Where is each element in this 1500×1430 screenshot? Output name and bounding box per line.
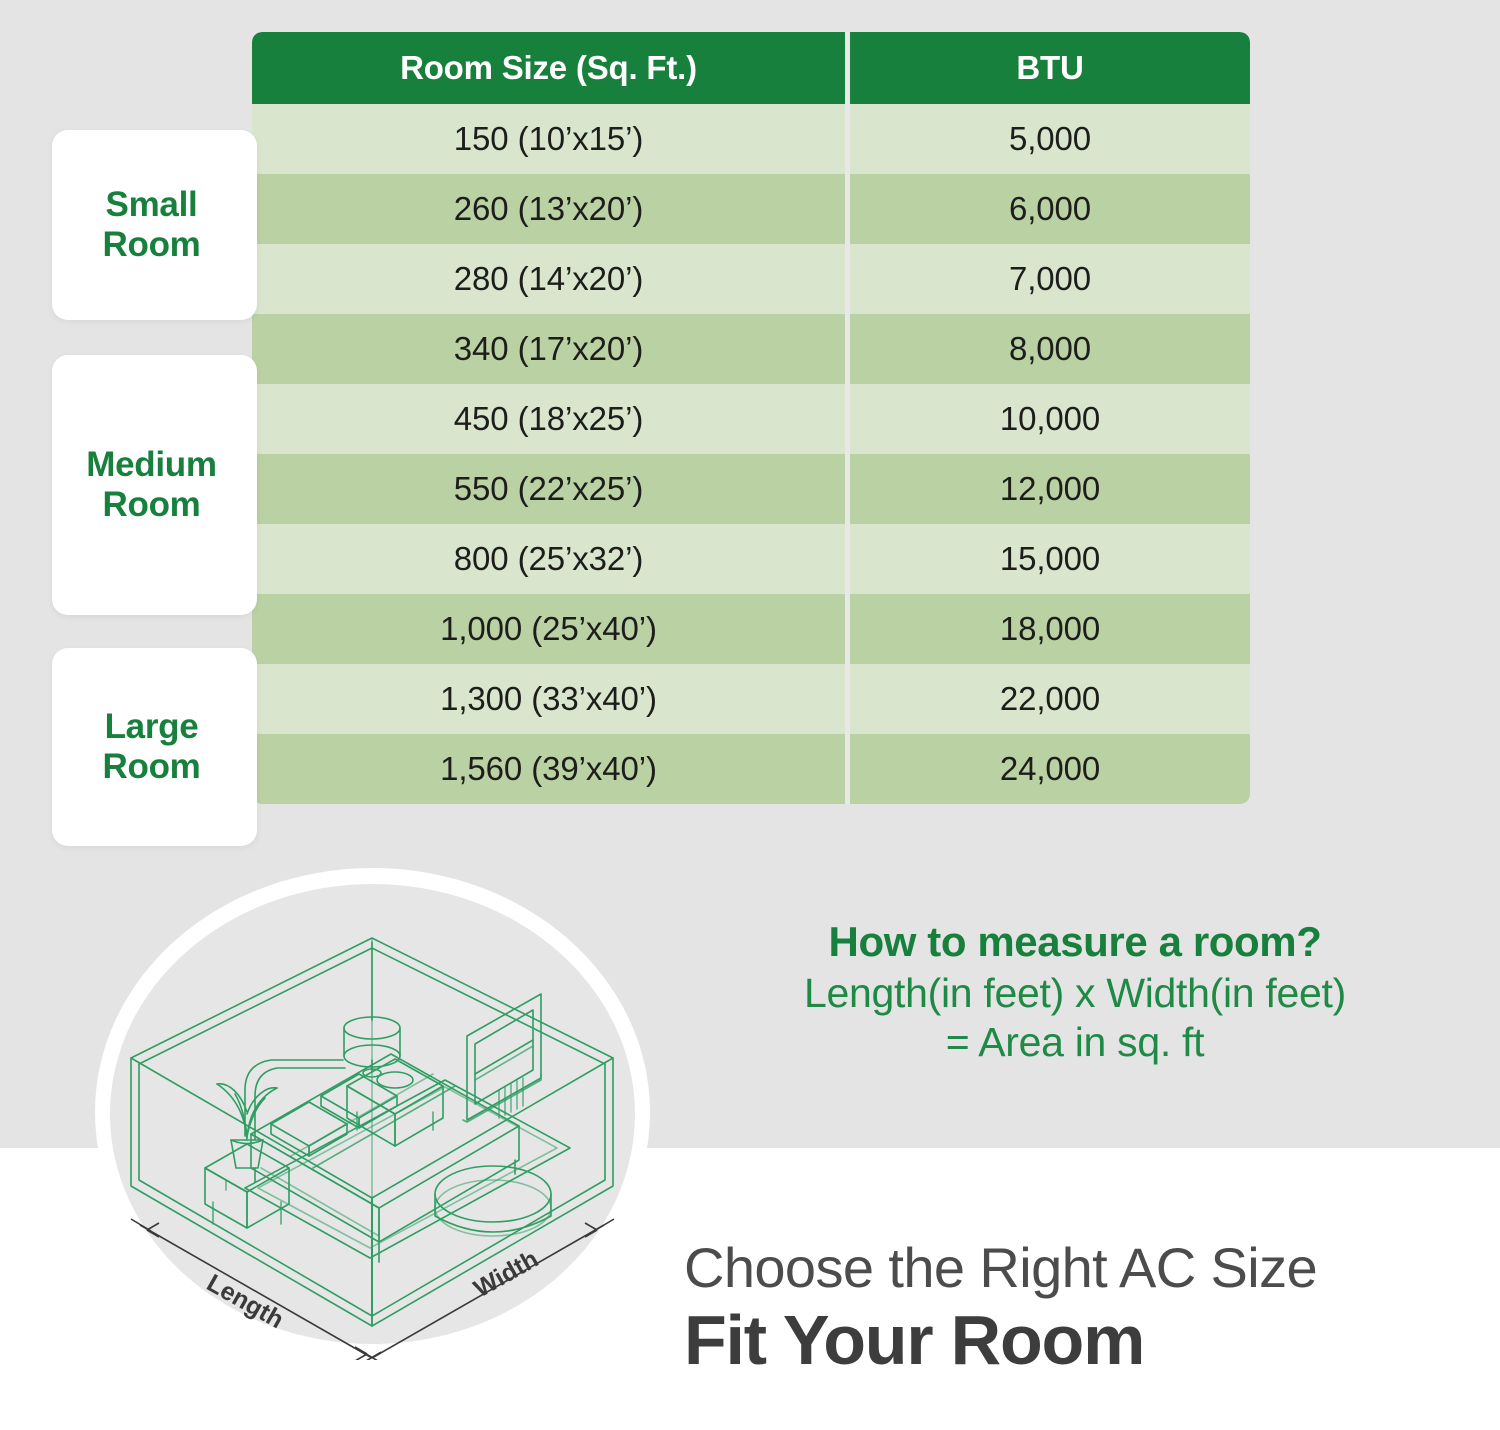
- btu-sizing-table: Room Size (Sq. Ft.) BTU 150 (10’x15’)5,0…: [252, 32, 1250, 804]
- how-to-measure-block: How to measure a room? Length(in feet) x…: [690, 918, 1460, 1067]
- table-row: 280 (14’x20’)7,000: [252, 244, 1250, 314]
- category-line-2: Room: [103, 225, 201, 264]
- btu-sizing-table-wrapper: Room Size (Sq. Ft.) BTU 150 (10’x15’)5,0…: [252, 32, 1250, 804]
- cell-room-size: 800 (25’x32’): [252, 524, 845, 594]
- category-line-1: Large: [105, 707, 199, 746]
- nightstand-left: [205, 1144, 289, 1228]
- cell-room-size: 1,300 (33’x40’): [252, 664, 845, 734]
- cell-btu: 8,000: [850, 314, 1250, 384]
- headline-block: Choose the Right AC Size Fit Your Room: [684, 1238, 1484, 1378]
- cell-btu: 12,000: [850, 454, 1250, 524]
- cell-btu: 22,000: [850, 664, 1250, 734]
- cell-btu: 24,000: [850, 734, 1250, 804]
- headline-title: Fit Your Room: [684, 1303, 1484, 1377]
- table-row: 1,000 (25’x40’)18,000: [252, 594, 1250, 664]
- cell-room-size: 450 (18’x25’): [252, 384, 845, 454]
- cell-room-size: 260 (13’x20’): [252, 174, 845, 244]
- cell-btu: 6,000: [850, 174, 1250, 244]
- cell-btu: 15,000: [850, 524, 1250, 594]
- category-line-2: Room: [103, 485, 201, 524]
- cell-room-size: 1,560 (39’x40’): [252, 734, 845, 804]
- table-body: 150 (10’x15’)5,000260 (13’x20’)6,000280 …: [252, 104, 1250, 804]
- headline-subtitle: Choose the Right AC Size: [684, 1238, 1484, 1297]
- table-row: 800 (25’x32’)15,000: [252, 524, 1250, 594]
- category-card-small-room: Small Room: [52, 130, 257, 320]
- table-row: 150 (10’x15’)5,000: [252, 104, 1250, 174]
- category-card-large-room: Large Room: [52, 648, 257, 846]
- cell-btu: 7,000: [850, 244, 1250, 314]
- how-to-measure-formula-line-2: = Area in sq. ft: [690, 1018, 1460, 1067]
- category-label-large-room: Large Room: [103, 707, 207, 787]
- length-arrowhead-right: [355, 1347, 367, 1360]
- cell-room-size: 150 (10’x15’): [252, 104, 845, 174]
- table-row: 260 (13’x20’)6,000: [252, 174, 1250, 244]
- table-header-row: Room Size (Sq. Ft.) BTU: [252, 32, 1250, 104]
- table-row: 1,300 (33’x40’)22,000: [252, 664, 1250, 734]
- cell-btu: 5,000: [850, 104, 1250, 174]
- cell-room-size: 340 (17’x20’): [252, 314, 845, 384]
- length-label: Length: [202, 1269, 288, 1334]
- table-row: 550 (22’x25’)12,000: [252, 454, 1250, 524]
- category-card-medium-room: Medium Room: [52, 355, 257, 615]
- column-header-btu: BTU: [850, 32, 1250, 104]
- category-line-1: Medium: [86, 445, 216, 484]
- category-line-2: Room: [103, 747, 201, 786]
- category-label-medium-room: Medium Room: [86, 445, 222, 525]
- cell-btu: 18,000: [850, 594, 1250, 664]
- category-label-small-room: Small Room: [103, 185, 207, 265]
- room-illustration: Length Width: [95, 868, 650, 1360]
- table-header: Room Size (Sq. Ft.) BTU: [252, 32, 1250, 104]
- table-row: 340 (17’x20’)8,000: [252, 314, 1250, 384]
- category-line-1: Small: [106, 185, 198, 224]
- how-to-measure-title: How to measure a room?: [690, 918, 1460, 965]
- cell-room-size: 280 (14’x20’): [252, 244, 845, 314]
- cell-btu: 10,000: [850, 384, 1250, 454]
- infographic-canvas: Small Room Medium Room Large Room Room S…: [0, 0, 1500, 1430]
- cell-room-size: 550 (22’x25’): [252, 454, 845, 524]
- cell-room-size: 1,000 (25’x40’): [252, 594, 845, 664]
- ottoman: [435, 1166, 551, 1236]
- column-header-room-size: Room Size (Sq. Ft.): [252, 32, 845, 104]
- how-to-measure-formula-line-1: Length(in feet) x Width(in feet): [690, 969, 1460, 1018]
- table-row: 450 (18’x25’)10,000: [252, 384, 1250, 454]
- table-row: 1,560 (39’x40’)24,000: [252, 734, 1250, 804]
